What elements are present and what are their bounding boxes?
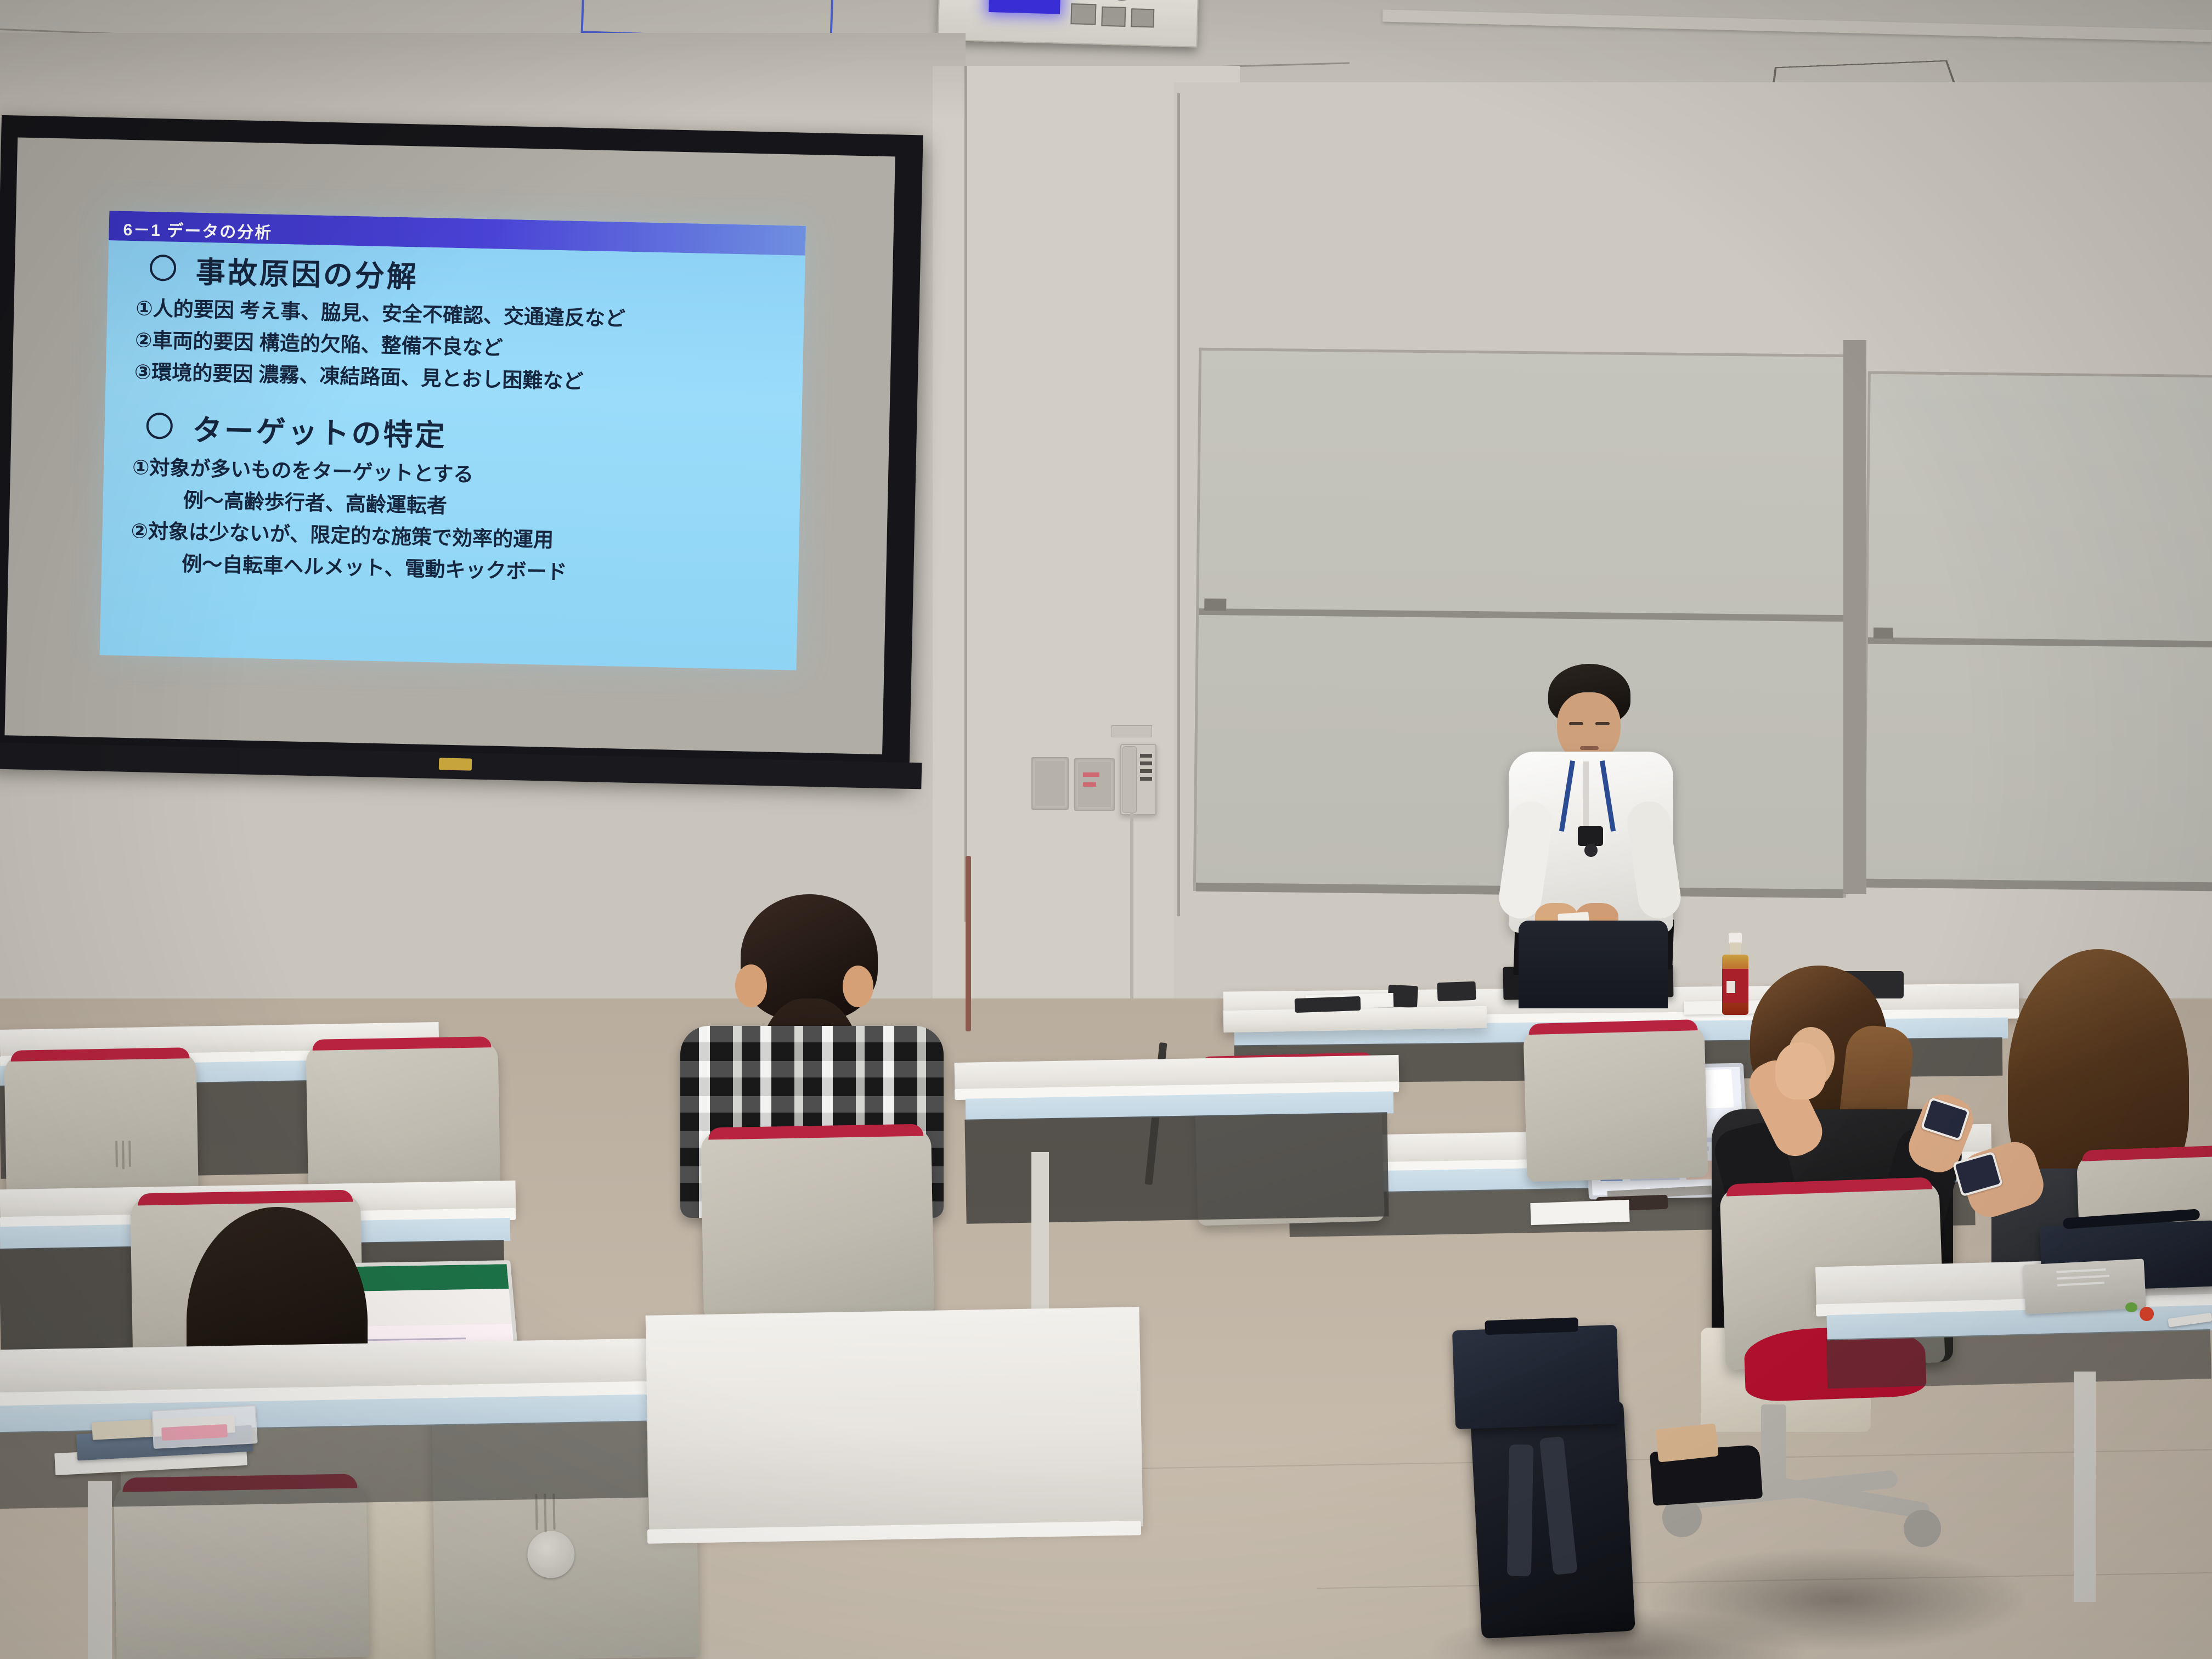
slide-bullet-circle-1 <box>150 255 177 281</box>
wall-plate-button[interactable] <box>1083 782 1096 787</box>
wall-plate-right <box>1074 758 1115 811</box>
backpack-strap <box>1539 1436 1578 1575</box>
slide-item: ③環境的要因 濃霧、凍結路面、見とおし困難など <box>134 355 584 394</box>
desk-leg <box>88 1481 112 1659</box>
lanyard-clip <box>1584 844 1598 857</box>
wall-plate-left <box>1031 757 1069 810</box>
desk-foreground-right <box>646 1307 1143 1535</box>
desk-plaid-under <box>964 1112 1389 1223</box>
slide-body: 事故原因の分解 ①人的要因 考え事、脇見、安全不確認、交通違反など ②車両的要因… <box>100 240 805 670</box>
slide-bullet-circle-2 <box>146 413 173 439</box>
student-papers <box>1530 1200 1629 1225</box>
instructor-trousers <box>1519 921 1668 1008</box>
lecture-hall-photo: ● 6－1 データの分析 事故原因の分解 ①人的要因 考え事、脇見、安全不確認、… <box>0 0 2212 1659</box>
bottle-neck <box>1730 943 1741 956</box>
phone-keypad-row[interactable] <box>1140 754 1152 758</box>
slide-example: 例～高齢歩行者、高齢運転者 <box>183 483 447 518</box>
chair-plaid[interactable] <box>701 1128 934 1318</box>
red-small-item <box>2140 1307 2154 1321</box>
wall-top-shading <box>0 33 966 121</box>
student-plaid-ear-left <box>735 964 767 1007</box>
wall-corner-edge <box>964 66 967 922</box>
floor-shadow <box>1646 1547 2030 1651</box>
chair-fin <box>115 1141 118 1167</box>
projector-lens-dial <box>1104 0 1139 1</box>
wall-plate-button[interactable] <box>1083 772 1099 777</box>
chair-trim <box>312 1036 491 1051</box>
projection-screen-frame: 6－1 データの分析 事故原因の分解 ①人的要因 考え事、脇見、安全不確認、交通… <box>0 115 923 782</box>
desk-leg <box>1031 1152 1049 1328</box>
phone-handset[interactable] <box>1122 746 1137 813</box>
chair-fin <box>122 1141 125 1169</box>
wall-phone[interactable] <box>1120 744 1156 815</box>
whiteboard-right <box>1863 371 2212 891</box>
student-plaid-ear-right <box>843 966 873 1007</box>
chair-fin <box>544 1494 546 1532</box>
pouch-seam <box>2057 1275 2109 1280</box>
chair-vent-fins <box>115 1141 149 1174</box>
instructor <box>1476 664 1706 1004</box>
bag-under-desk[interactable] <box>1452 1325 1620 1429</box>
projected-slide: 6－1 データの分析 事故原因の分解 ①人的要因 考え事、脇見、安全不確認、交通… <box>100 211 806 670</box>
phone-keypad-row[interactable] <box>1140 769 1152 773</box>
instructor-eye-right <box>1595 722 1610 725</box>
bag-handle <box>1485 1317 1578 1335</box>
student-ponytail-hand <box>1775 1042 1826 1099</box>
whiteboard-divider-post <box>1843 340 1866 894</box>
wall-conduit <box>966 856 971 1031</box>
phone-keypad-row[interactable] <box>1140 761 1152 765</box>
whiteboard-clip <box>1204 599 1226 611</box>
instructor-eye-left <box>1569 722 1583 725</box>
pouch-seam <box>2056 1268 2106 1273</box>
slide-heading-1: 事故原因の分解 <box>195 248 419 296</box>
chair-trim <box>10 1047 189 1062</box>
wall-corner-edge-2 <box>1177 93 1180 916</box>
chair-right-rear-2[interactable] <box>1523 1024 1708 1182</box>
desk-bottom-right-under <box>1826 1329 2211 1389</box>
slide-header-title: 6－1 データの分析 <box>123 216 273 244</box>
desk-item-cable[interactable] <box>1295 996 1361 1013</box>
slide-item: ②車両的要因 構造的欠陥、整備不良など <box>135 323 504 361</box>
projector-port <box>1101 7 1126 27</box>
desk-leg <box>2074 1372 2096 1602</box>
phone-keypad-row[interactable] <box>1140 777 1152 781</box>
chair-vent-fins <box>535 1493 574 1536</box>
projector-indicator-panel <box>989 0 1060 14</box>
wall-plate-inner <box>1035 761 1065 806</box>
backpack-strap <box>1507 1444 1533 1577</box>
chair-caster <box>1904 1510 1941 1547</box>
slide-heading-2: ターゲットの特定 <box>192 406 448 455</box>
whiteboard-surface <box>1865 374 2212 888</box>
screen-pull-latch[interactable] <box>439 758 472 770</box>
instructor-mouth <box>1580 746 1599 750</box>
projector-port <box>1070 3 1096 25</box>
slide-example: 例～自転車ヘルメット、電動キックボード <box>182 547 567 585</box>
whiteboard-clip <box>1874 628 1893 639</box>
projection-screen-surface: 6－1 データの分析 事故原因の分解 ①人的要因 考え事、脇見、安全不確認、交通… <box>4 137 895 754</box>
lanyard-badge <box>1578 826 1603 846</box>
wall-label-strip <box>1111 725 1152 737</box>
pencil-case-contents <box>161 1424 228 1441</box>
student-ankle <box>1655 1423 1719 1462</box>
bottle-cap <box>1729 933 1742 944</box>
green-small-item <box>2125 1302 2137 1312</box>
podium-remote[interactable] <box>1437 981 1476 1001</box>
chair-fin <box>128 1141 131 1167</box>
chair-height-knob[interactable] <box>527 1531 575 1578</box>
ceiling-projector <box>938 0 1199 48</box>
pencil-case[interactable] <box>151 1405 257 1449</box>
pouch-seam <box>2057 1282 2104 1286</box>
slide-item: ①対象が多いものをターゲットとする <box>132 450 474 488</box>
backpack-floor[interactable] <box>1470 1401 1635 1639</box>
projector-port <box>1131 8 1154 27</box>
